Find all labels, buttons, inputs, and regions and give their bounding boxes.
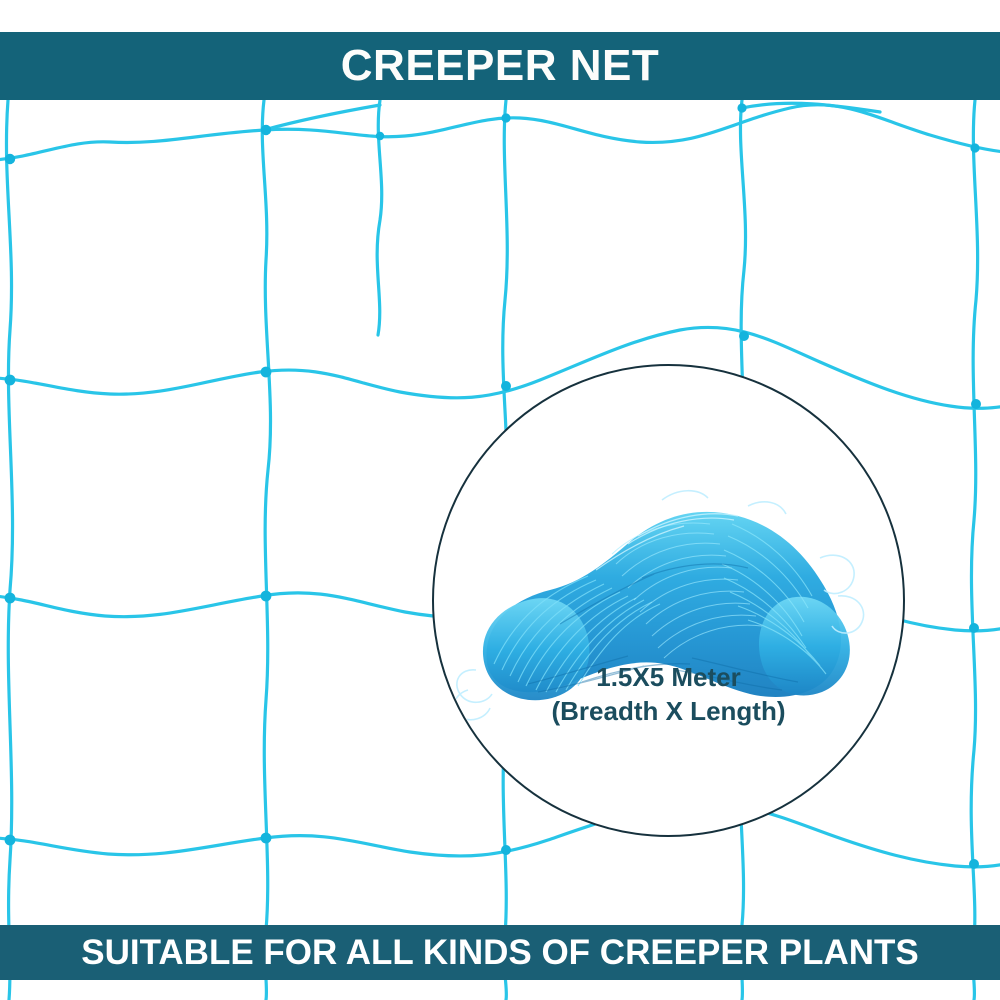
footer-banner: SUITABLE FOR ALL KINDS OF CREEPER PLANTS xyxy=(0,925,1000,980)
dimension-note: (Breadth X Length) xyxy=(432,694,905,728)
product-callout-circle xyxy=(432,364,905,837)
footer-tagline: SUITABLE FOR ALL KINDS OF CREEPER PLANTS xyxy=(81,935,918,970)
page-title: CREEPER NET xyxy=(341,44,659,88)
header-banner: CREEPER NET xyxy=(0,32,1000,100)
product-image: CREEPER NET xyxy=(0,0,1000,1000)
callout-dimension-text: 1.5X5 Meter (Breadth X Length) xyxy=(432,660,905,728)
dimension-value: 1.5X5 Meter xyxy=(432,660,905,694)
